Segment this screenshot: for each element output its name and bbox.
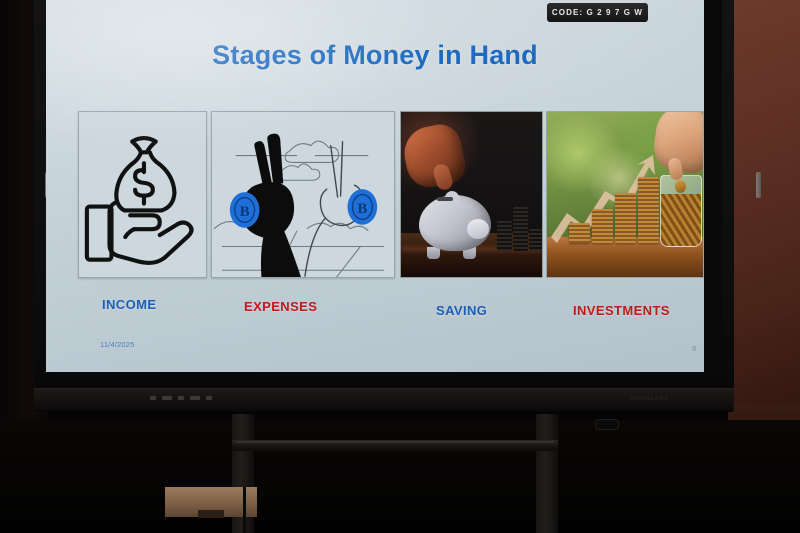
slide-date: 11/4/2025	[100, 340, 135, 349]
power-cable	[243, 487, 246, 533]
stage-label-expenses: EXPENSES	[244, 299, 317, 314]
control-button[interactable]	[190, 396, 200, 400]
photo-of-display-in-room: CODE: G 2 9 7 G W Stages of Money in Han…	[0, 0, 800, 533]
stage-label-saving: SAVING	[436, 303, 487, 318]
stage-label-row: INCOME EXPENSES SAVING INVESTMENTS	[46, 0, 704, 372]
display-control-bar[interactable]	[34, 388, 734, 410]
control-button[interactable]	[206, 396, 212, 400]
room-wall-right	[728, 0, 800, 420]
bezel-side-tab-right-icon[interactable]	[756, 172, 761, 198]
control-button[interactable]	[162, 396, 172, 400]
room-floor	[0, 420, 800, 533]
display-ir-sensor-icon	[595, 419, 619, 430]
screen-surface[interactable]: CODE: G 2 9 7 G W Stages of Money in Han…	[46, 0, 704, 372]
stand-post-right	[536, 414, 558, 533]
stand-crossbar-highlight	[236, 441, 554, 443]
display-control-buttons[interactable]	[150, 396, 212, 400]
display-brand-mark: interGLASS	[630, 396, 669, 402]
stage-label-income: INCOME	[102, 297, 156, 312]
slide-page-number: 8	[692, 344, 696, 353]
control-button[interactable]	[150, 396, 156, 400]
stage-label-investments: INVESTMENTS	[573, 303, 670, 318]
control-button[interactable]	[178, 396, 184, 400]
floor-box-tab	[198, 510, 224, 518]
